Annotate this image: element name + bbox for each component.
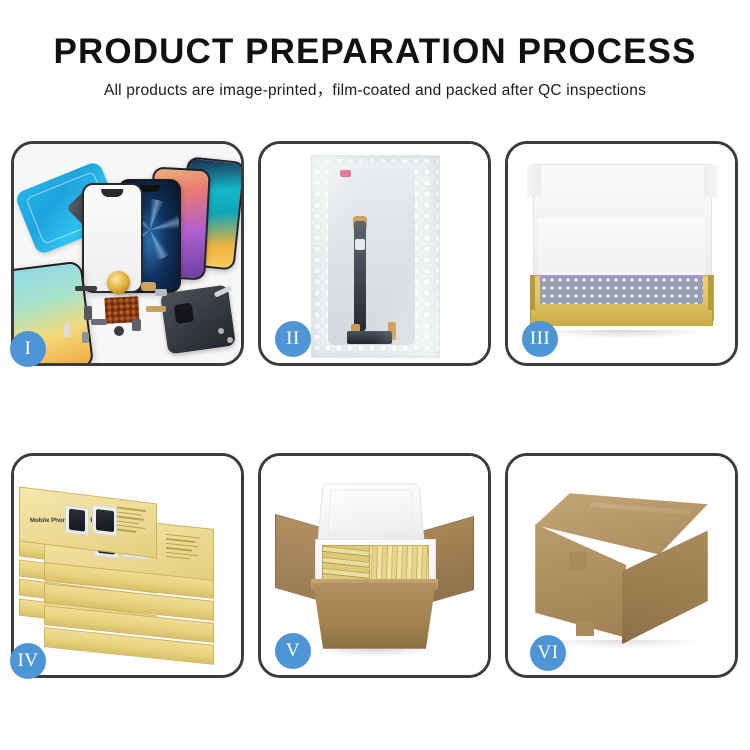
step-badge-6: VI <box>530 635 566 671</box>
step-panel-5[interactable]: V <box>258 453 491 678</box>
box-stack: Mobile Phone Spare Parts Mobile Phone Sp… <box>14 456 241 675</box>
step-badge-3: III <box>522 321 558 357</box>
foam-lid <box>317 484 424 543</box>
scene-smartphones-and-parts <box>14 144 241 363</box>
step-image-1 <box>14 144 241 363</box>
foam-sheet <box>538 218 706 284</box>
bubble-wrapped-items <box>540 276 703 303</box>
step-panel-grid: I <box>11 141 739 678</box>
tray-front-panel <box>531 310 713 325</box>
step-panel-6[interactable]: VI <box>505 453 738 678</box>
step-panel-1[interactable]: I <box>11 141 244 366</box>
drop-shadow <box>535 330 708 339</box>
scene-stacked-retail-boxes: Mobile Phone Spare Parts Mobile Phone Sp… <box>14 456 241 675</box>
step-panel-3[interactable]: III <box>505 141 738 366</box>
carton-body <box>313 583 436 649</box>
step-badge-2: II <box>275 321 311 357</box>
driver-chip <box>355 239 365 250</box>
step-panel-4[interactable]: Mobile Phone Spare Parts Mobile Phone Sp… <box>11 453 244 678</box>
carton-tab <box>576 622 594 635</box>
box-spec-lines <box>116 507 149 537</box>
spare-part <box>114 326 124 336</box>
box-screen-thumb <box>92 505 117 536</box>
step-badge-1: I <box>10 331 46 367</box>
spare-part <box>146 306 166 312</box>
spare-part <box>141 282 156 291</box>
spare-part <box>84 306 92 320</box>
box-screen-thumb <box>64 505 88 536</box>
bubble-wrap-bag <box>311 155 440 358</box>
spare-part <box>64 324 70 337</box>
drop-shadow <box>311 649 438 658</box>
spare-part <box>132 319 141 331</box>
spare-part <box>82 332 89 343</box>
red-qc-sticker <box>340 170 351 177</box>
spare-part <box>91 319 107 325</box>
lcd-screen <box>328 168 414 345</box>
product-preparation-infographic: PRODUCT PREPARATION PROCESS All products… <box>0 0 750 750</box>
step-badge-5: V <box>275 633 311 669</box>
phone-housing-back <box>160 284 236 354</box>
box-spec-lines <box>165 533 202 563</box>
spare-part <box>75 286 97 291</box>
copper-coil-part <box>107 271 130 294</box>
step-image-4: Mobile Phone Spare Parts Mobile Phone Sp… <box>14 456 241 675</box>
bottom-strip <box>347 331 392 343</box>
step-panel-2[interactable]: II <box>258 141 491 366</box>
page-title: PRODUCT PREPARATION PROCESS <box>0 30 750 74</box>
page-subtitle: All products are image-printed，film-coat… <box>0 78 750 104</box>
carton-tab <box>569 552 587 570</box>
step-badge-4: IV <box>10 643 46 679</box>
spare-part <box>155 289 167 296</box>
flex-cable <box>354 221 365 331</box>
header: PRODUCT PREPARATION PROCESS All products… <box>0 0 750 104</box>
packed-yellow-boxes-angled <box>322 545 369 580</box>
